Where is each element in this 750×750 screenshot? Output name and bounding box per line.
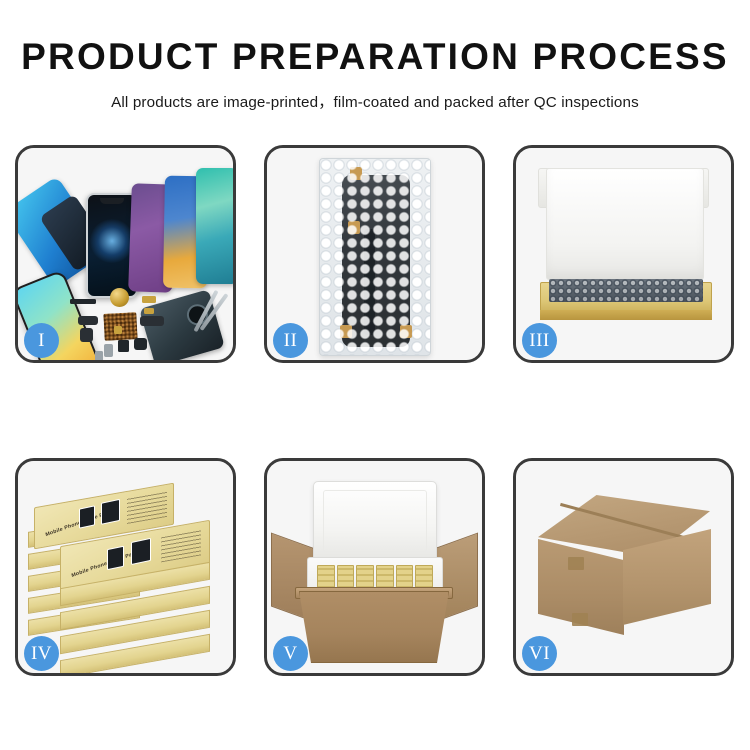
adhesive-tab-top: [350, 167, 362, 180]
adhesive-tab-bottom-left: [340, 325, 352, 338]
retail-box-spec-lines-upper: [127, 491, 167, 524]
part-flex-cable-a: [78, 316, 98, 325]
step-badge-2: II: [273, 323, 308, 358]
carton-body: [299, 591, 449, 663]
coil-component: [110, 288, 129, 307]
retail-box-window-d: [131, 538, 151, 565]
box-tray-front-edge: [540, 310, 712, 320]
process-step-4: Mobile Phone Spare Parts Mobile Phone Sp…: [15, 458, 236, 676]
screen-glow: [90, 219, 134, 263]
part-vibrator: [134, 338, 147, 350]
part-screw-set: [114, 326, 122, 334]
step-badge-6: VI: [522, 636, 557, 671]
process-step-6: VI: [513, 458, 734, 676]
step-badge-1: I: [24, 323, 59, 358]
step-badge-4: IV: [24, 636, 59, 671]
phone-notch: [100, 198, 124, 204]
retail-box-window-b: [101, 499, 120, 525]
page-subtitle: All products are image-printed，film-coat…: [0, 90, 750, 112]
part-sim-tray: [95, 351, 103, 360]
part-flex-cable-b: [80, 328, 93, 342]
carton-tape-lower: [572, 613, 588, 626]
process-step-5: V: [264, 458, 485, 676]
bubble-wrapped-contents: [549, 279, 703, 302]
process-step-3: III: [513, 145, 734, 363]
retail-box-window-a: [79, 505, 95, 528]
process-step-2: II: [264, 145, 485, 363]
carton-tape-upper: [568, 557, 584, 570]
retail-box-label-lower: Mobile Phone Spare Parts: [71, 549, 140, 579]
step-badge-5: V: [273, 636, 308, 671]
process-step-1: I: [15, 145, 236, 363]
wrapped-screen-assembly: [342, 175, 410, 347]
part-gold-connector: [142, 296, 156, 303]
wrapped-flex-cable: [364, 229, 375, 335]
step-badge-3: III: [522, 323, 557, 358]
bubble-wrap-bag: [319, 158, 431, 356]
box-white-lid: [546, 168, 704, 280]
part-flex-cable-c: [140, 316, 164, 326]
adhesive-tab-mid: [348, 221, 360, 234]
retail-box-stack: Mobile Phone Spare Parts Mobile Phone Sp…: [26, 477, 231, 667]
adhesive-tab-bottom-right: [400, 325, 412, 338]
phone-green: [196, 168, 233, 284]
retail-box-spec-lines-lower: [161, 529, 201, 562]
retail-box-window-c: [107, 546, 124, 571]
part-gold-clip: [144, 308, 154, 314]
process-steps-grid: I II: [15, 145, 735, 676]
part-camera-module: [104, 344, 113, 357]
part-speaker: [118, 340, 129, 352]
product-preparation-process-page: PRODUCT PREPARATION PROCESS All products…: [0, 0, 750, 750]
foam-box-lid: [313, 481, 437, 563]
part-strip: [70, 299, 96, 304]
header: PRODUCT PREPARATION PROCESS All products…: [0, 0, 750, 112]
page-title: PRODUCT PREPARATION PROCESS: [0, 38, 750, 77]
